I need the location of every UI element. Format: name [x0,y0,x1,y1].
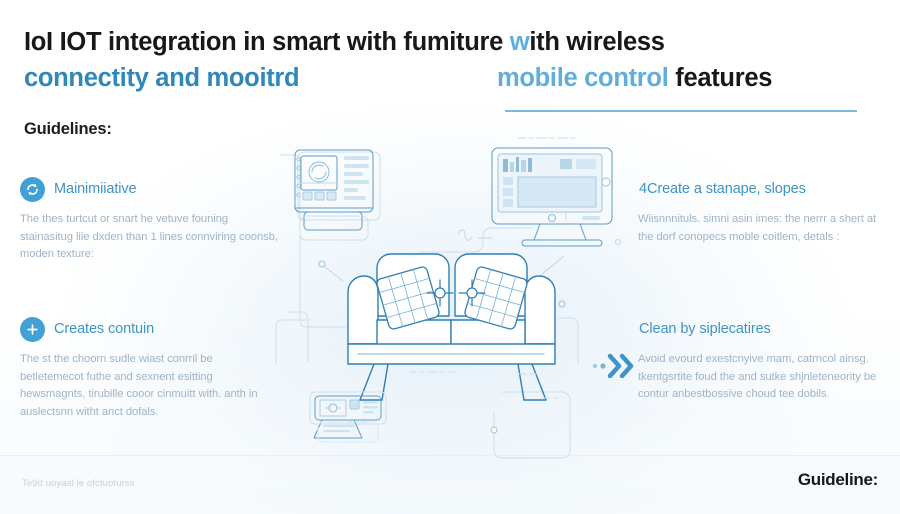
guideline-title-top-right: 4Create a stanape, slopes [639,181,806,197]
guideline-title-bottom-left: Creates contuin [54,321,154,337]
title-subline-right: mobile control features [497,60,772,96]
guideline-block-bottom-left: Creates contuin The st the choorn sudle … [20,316,278,421]
guideline-header-bottom-right: Clean by siplecatires [638,316,890,342]
header: IoI IOT integration in smart with fumitu… [24,24,876,96]
title-text-part-2: ith wireless [529,28,664,56]
title-subline-right-dark: features [675,64,772,92]
title-line-2: connectity and mooitrd mobile control fe… [24,60,876,96]
guideline-block-top-left: Mainimiiative The thes turtcut or snart … [20,176,278,264]
smart-furniture-illustration [270,130,640,460]
guideline-header-bottom-left: Creates contuin [20,316,278,342]
chevron-arrows-icon [592,352,636,378]
footer-note: Te9d uoyasl le ofctuoturss [22,478,134,489]
guidelines-label: Guidelines: [24,120,112,139]
title-line-1: IoI IOT integration in smart with fumitu… [24,24,876,60]
guideline-title-top-left: Mainimiiative [54,181,137,197]
title-subline-left: connectity and mooitrd [24,60,299,96]
guideline-title-bottom-right: Clean by siplecatires [639,321,771,337]
sync-circle-icon [20,177,45,202]
infographic-page: IoI IOT integration in smart with fumitu… [0,0,900,514]
guideline-body-top-left: The thes turtcut or snart he vetuve foun… [20,211,278,264]
guideline-header-top-left: Mainimiiative [20,176,278,202]
desktop-monitor [458,138,621,246]
guideline-block-bottom-right: Clean by siplecatires Avoid evourd exest… [638,316,890,404]
title-text-highlight-w: w [510,28,530,56]
title-underline-rule [505,110,857,112]
footer-brand: Guideline: [798,470,878,490]
title-text-part-1: IoI IOT integration in smart with fumitu… [24,28,510,56]
guideline-block-top-right: 4Create a stanape, slopes Wiisnnnituls. … [638,176,884,246]
title-subline-right-blue: mobile control [497,64,675,92]
footer-divider [0,455,900,456]
guideline-body-bottom-left: The st the choorn sudle wiast conrril be… [20,351,278,421]
plus-circle-icon [20,317,45,342]
control-panel-device [295,150,380,240]
guideline-body-bottom-right: Avoid evourd exestcnyive mam, catrncol a… [638,351,890,404]
guideline-header-top-right: 4Create a stanape, slopes [638,176,884,202]
guideline-body-top-right: Wiisnnnituls. simni asin imes: the nerrr… [638,211,884,246]
